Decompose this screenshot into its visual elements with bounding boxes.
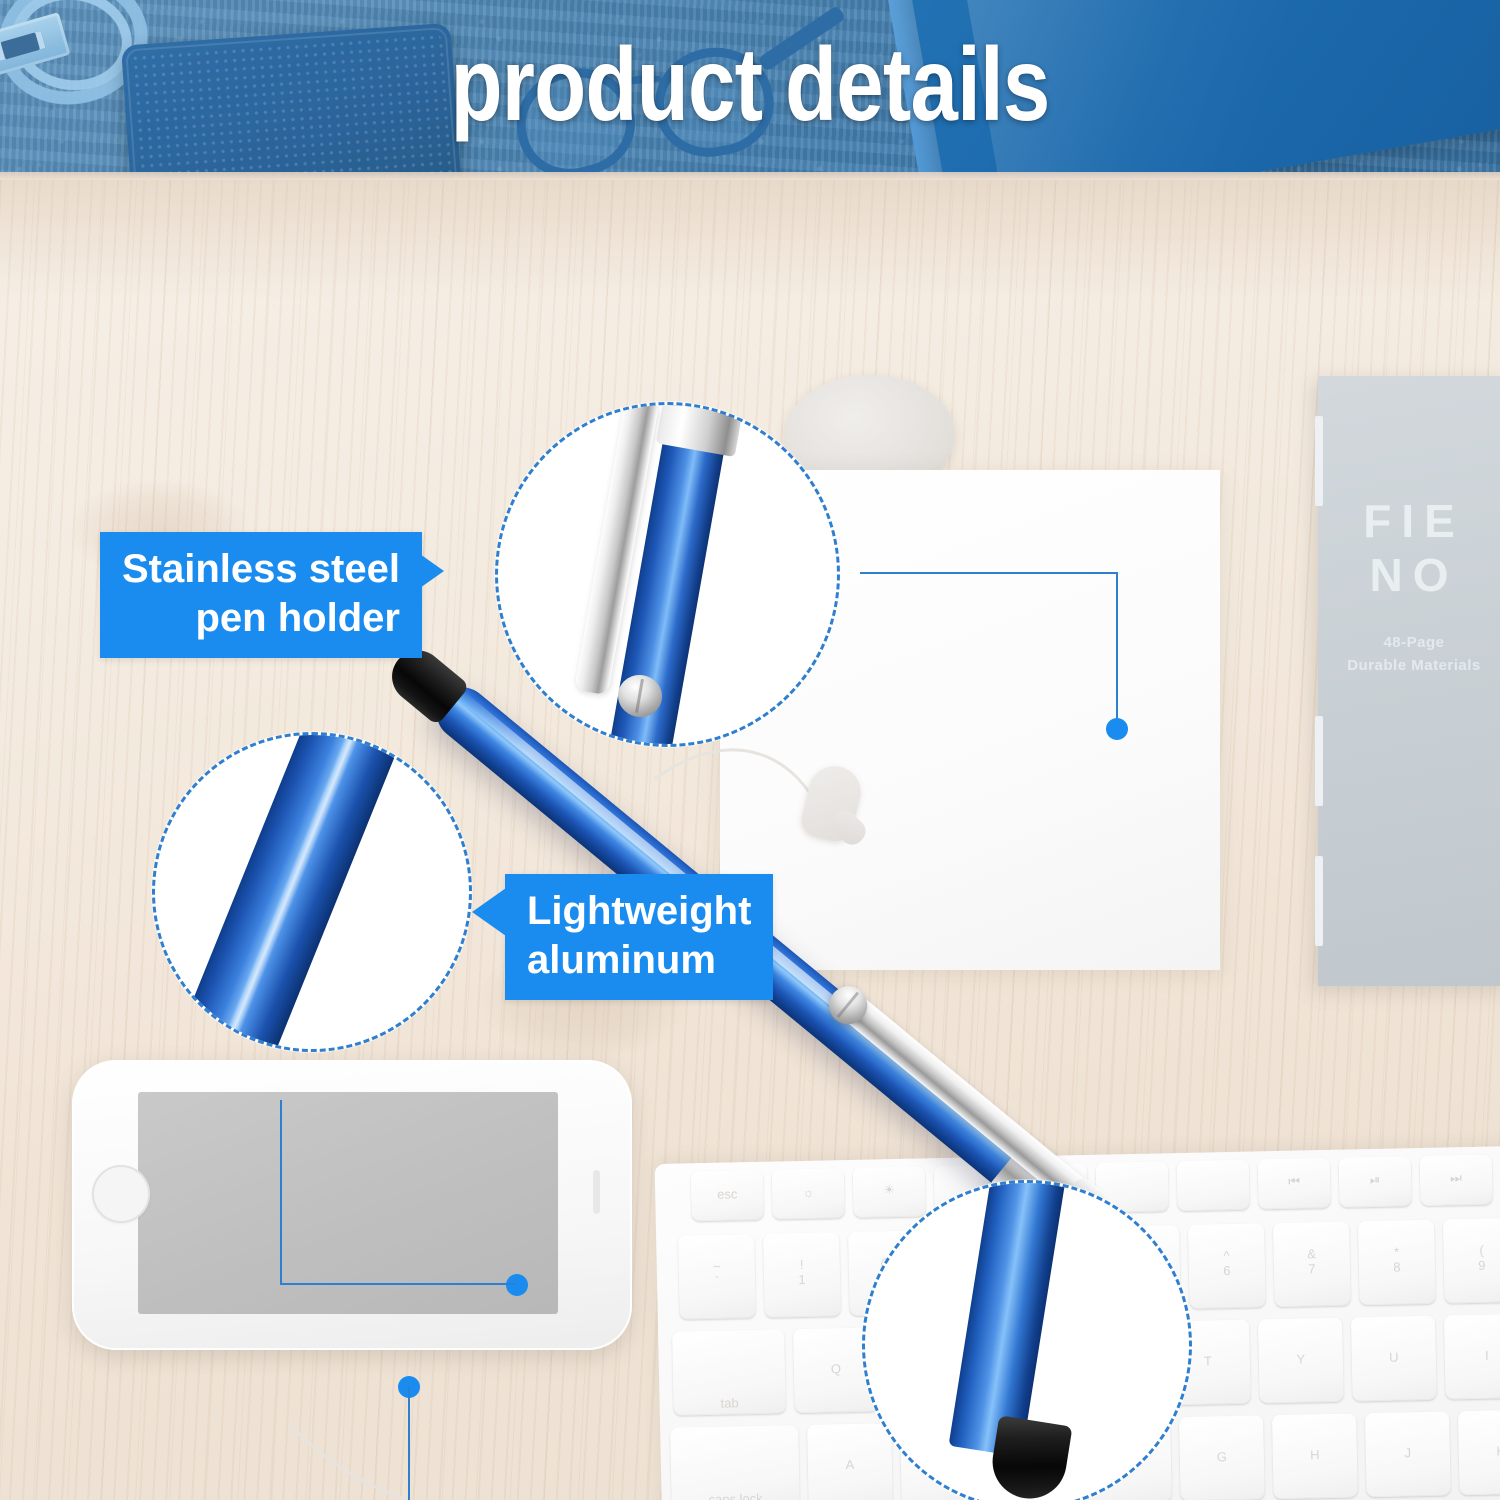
callout-circle-aluminum	[152, 732, 472, 1052]
keyboard-key: *8	[1358, 1220, 1436, 1306]
notebook-subtitle: 48-Page Durable Materials	[1318, 632, 1500, 677]
product-detail-image: product details FIE NO 48-Page Durable M…	[0, 0, 1500, 1500]
key-legend-bottom: 8	[1393, 1260, 1401, 1275]
keyboard-key: I	[1444, 1314, 1500, 1400]
zoom-rubber-tip	[987, 1415, 1072, 1500]
keyboard-key: ~`	[678, 1234, 756, 1320]
keyboard-key: Y	[1258, 1318, 1344, 1404]
notebook-binding-mark	[1315, 716, 1323, 806]
notebook-binding-mark	[1315, 416, 1323, 506]
keyboard-key: &7	[1273, 1222, 1351, 1308]
phone-screen	[138, 1092, 558, 1314]
keyboard-key: ⏮	[1258, 1158, 1331, 1209]
keyboard-key: ^6	[1188, 1223, 1266, 1309]
leader-line-stainless-steel-horizontal	[860, 572, 1118, 574]
key-legend-bottom: 9	[1478, 1259, 1486, 1274]
label-lightweight-aluminum: Lightweight aluminum	[505, 874, 773, 1000]
smartphone	[72, 1060, 632, 1350]
page-title: product details	[135, 33, 1365, 137]
leader-line-aluminum-vertical	[280, 1100, 282, 1285]
keyboard-key: esc	[691, 1170, 764, 1221]
key-legend-bottom: 1	[798, 1273, 806, 1288]
triangle-left-icon	[472, 888, 506, 936]
keyboard-key: ⏭	[1420, 1155, 1493, 1206]
key-legend-top: *	[1394, 1246, 1399, 1261]
zoom-tip-barrel	[949, 1180, 1069, 1457]
leader-line-stainless-steel-vertical	[1116, 572, 1118, 724]
leader-line-tip-vertical-left	[408, 1386, 410, 1500]
anchor-dot-stainless-steel	[1106, 718, 1128, 740]
header-bottom-edge	[0, 172, 1500, 180]
key-legend-bottom: 6	[1223, 1264, 1231, 1279]
keyboard-key: (9	[1443, 1218, 1500, 1304]
leader-line-aluminum-horizontal	[280, 1283, 516, 1285]
label-stainless-steel-pen-holder: Stainless steel pen holder	[100, 532, 422, 658]
anchor-dot-lightweight-aluminum	[506, 1274, 528, 1296]
keyboard-key: ⏯	[1339, 1156, 1412, 1207]
keyboard-key: H	[1272, 1413, 1358, 1499]
keyboard-key: caps lock	[670, 1425, 800, 1500]
keyboard-key: tab	[672, 1329, 786, 1415]
keyboard-key: !1	[763, 1232, 841, 1318]
desk-shadow	[0, 180, 1500, 300]
field-notes-notebook: FIE NO 48-Page Durable Materials	[1318, 376, 1500, 986]
key-legend-top: (	[1479, 1244, 1484, 1259]
phone-side-detail	[593, 1170, 600, 1214]
keyboard-key: G	[1179, 1415, 1265, 1500]
key-legend-top: &	[1307, 1247, 1316, 1262]
keyboard-key: J	[1365, 1411, 1451, 1497]
keyboard-key: K	[1458, 1410, 1500, 1496]
key-legend-bottom: `	[715, 1275, 720, 1290]
key-legend-bottom: 7	[1308, 1262, 1316, 1277]
key-legend-top: ^	[1223, 1249, 1229, 1264]
callout-circle-rubber-tip	[862, 1180, 1192, 1500]
callout-aluminum-content	[155, 735, 469, 1049]
callout-pen-holder-content	[498, 405, 837, 744]
callout-circle-pen-holder	[495, 402, 840, 747]
header-banner: product details	[0, 0, 1500, 180]
notebook-title-line1: FIE	[1318, 494, 1500, 548]
notebook-title-line2: NO	[1318, 548, 1500, 602]
key-legend-top: ~	[713, 1260, 721, 1275]
keyboard-key: ☼	[772, 1168, 845, 1219]
keyboard-key: U	[1351, 1316, 1437, 1402]
callout-rubber-tip-content	[865, 1183, 1189, 1500]
desk-scene: FIE NO 48-Page Durable Materials esc☼☀⏮⏯…	[0, 180, 1500, 1500]
phone-home-button	[92, 1165, 150, 1223]
triangle-right-icon	[410, 547, 444, 595]
notebook-binding-mark	[1315, 856, 1323, 946]
key-legend-top: !	[800, 1258, 804, 1273]
